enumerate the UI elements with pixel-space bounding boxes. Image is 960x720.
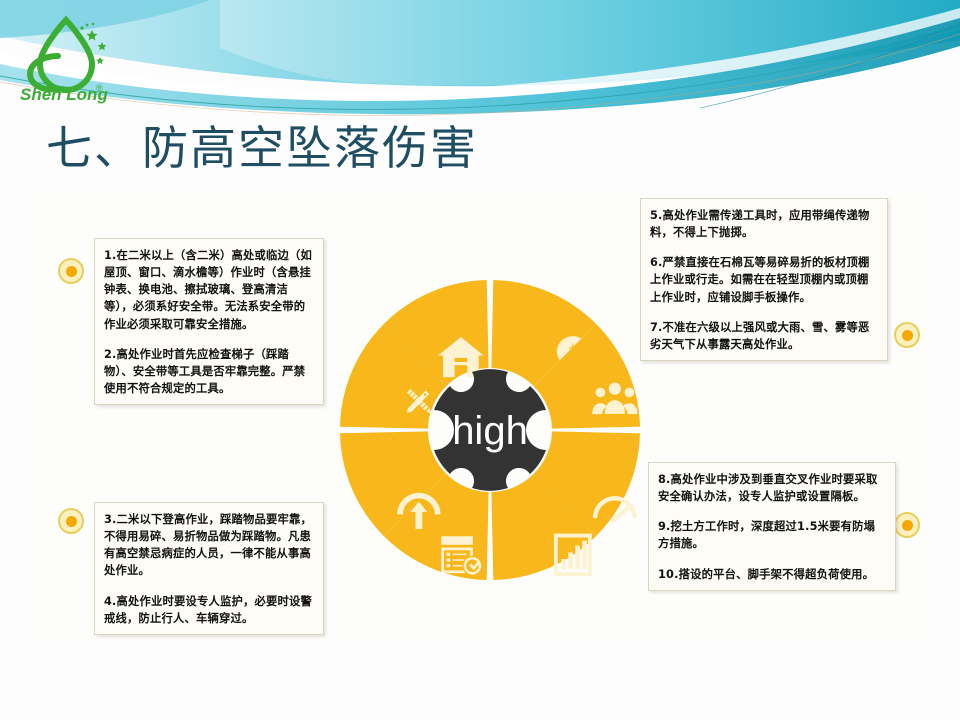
registered-mark-icon: ® — [96, 83, 103, 93]
water-drop-leaf-icon — [30, 20, 92, 90]
bullet-core-icon — [902, 330, 913, 341]
bullet-marker-top-right — [894, 322, 920, 348]
rule-paragraph: 3.二米以下登高作业，踩踏物品要牢靠，不得用易碎、易折物品做为踩踏物。凡患有高空… — [104, 511, 314, 580]
rule-paragraph: 10.搭设的平台、脚手架不得超负荷使用。 — [658, 566, 886, 583]
bullet-marker-bottom-right — [894, 512, 920, 538]
rules-card-bottom-right: 8.高处作业中涉及到垂直交叉作业时要采取安全确认办法，设专人监护或设置隔板。 9… — [648, 462, 896, 591]
wheel-hub-label: high — [452, 409, 528, 453]
bullet-marker-bottom-left — [58, 508, 84, 534]
bullet-core-icon — [902, 520, 913, 531]
bullet-core-icon — [66, 516, 77, 527]
rules-card-top-right: 5.高处作业需传递工具时，应用带绳传递物料，不得上下抛掷。 6.严禁直接在石棉瓦… — [640, 198, 888, 361]
rules-card-bottom-left: 3.二米以下登高作业，踩踏物品要牢靠，不得用易碎、易折物品做为踩踏物。凡患有高空… — [94, 502, 324, 635]
bullet-core-icon — [66, 266, 77, 277]
rule-paragraph: 4.高处作业时要设专人监护，必要时设警戒线，防止行人、车辆穿过。 — [104, 593, 314, 627]
rules-card-top-left: 1.在二米以上（含二米）高处或临边（如屋顶、窗口、滴水檐等）作业时（含悬挂钟表、… — [94, 238, 324, 405]
rule-paragraph: 1.在二米以上（含二米）高处或临边（如屋顶、窗口、滴水檐等）作业时（含悬挂钟表、… — [104, 247, 314, 333]
brand-logo: Shen Long ® — [14, 12, 118, 104]
rule-paragraph: 6.严禁直接在石棉瓦等易碎易折的板材顶棚上作业或行走。如需在在轻型顶棚内或顶棚上… — [650, 254, 878, 305]
rule-paragraph: 5.高处作业需传递工具时，应用带绳传递物料，不得上下抛掷。 — [650, 207, 878, 241]
wheel-hub: high — [434, 369, 546, 491]
rule-paragraph: 8.高处作业中涉及到垂直交叉作业时要采取安全确认办法，设专人监护或设置隔板。 — [658, 471, 886, 505]
puzzle-wheel-diagram: high — [336, 276, 644, 584]
header-banner — [0, 0, 960, 118]
bullet-marker-top-left — [58, 258, 84, 284]
slide-canvas: Shen Long ® 七、防高空坠落伤害 1.在二米以上（含二米）高处或临边（… — [0, 0, 960, 720]
page-title: 七、防高空坠落伤害 — [46, 112, 478, 178]
rule-paragraph: 2.高处作业时首先应检查梯子（踩踏物）、安全带等工具是否牢靠完整。严禁使用不符合… — [104, 346, 314, 397]
rule-paragraph: 7.不准在六级以上强风或大雨、雪、雾等恶劣天气下从事露天高处作业。 — [650, 319, 878, 353]
rule-paragraph: 9.挖土方工作时，深度超过1.5米要有防塌方措施。 — [658, 518, 886, 552]
